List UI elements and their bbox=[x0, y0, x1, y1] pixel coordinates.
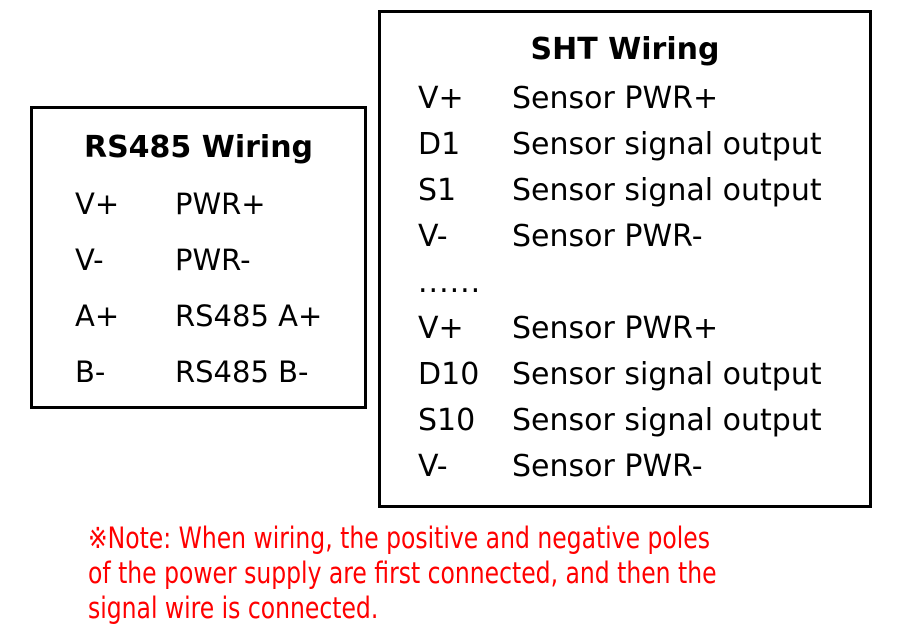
sht-pin-label: S10 bbox=[418, 403, 512, 438]
sht-row-ellipsis: ...... bbox=[418, 265, 869, 311]
note-line: ※Note: When wiring, the positive and neg… bbox=[88, 521, 772, 556]
sht-pin-desc: Sensor PWR+ bbox=[512, 311, 718, 346]
rs485-pin-list: V+ PWR+ V- PWR- A+ RS485 A+ B- RS485 B- bbox=[33, 187, 364, 411]
sht-row: D10 Sensor signal output bbox=[418, 357, 869, 403]
rs485-row: V+ PWR+ bbox=[75, 187, 364, 243]
sht-pin-label: D10 bbox=[418, 357, 512, 392]
rs485-pin-label: B- bbox=[75, 355, 175, 389]
rs485-pin-desc: RS485 B- bbox=[175, 355, 309, 389]
rs485-pin-label: A+ bbox=[75, 299, 175, 333]
rs485-pin-desc: RS485 A+ bbox=[175, 299, 322, 333]
rs485-pin-desc: PWR+ bbox=[175, 187, 266, 221]
rs485-pin-label: V+ bbox=[75, 187, 175, 221]
sht-wiring-box: SHT Wiring V+ Sensor PWR+ D1 Sensor sign… bbox=[378, 10, 872, 508]
sht-pin-label: V- bbox=[418, 449, 512, 484]
sht-pin-desc: Sensor PWR+ bbox=[512, 81, 718, 116]
sht-row: S1 Sensor signal output bbox=[418, 173, 869, 219]
rs485-wiring-box: RS485 Wiring V+ PWR+ V- PWR- A+ RS485 A+… bbox=[30, 106, 367, 409]
sht-pin-label: V+ bbox=[418, 311, 512, 346]
wiring-note: ※Note: When wiring, the positive and neg… bbox=[88, 521, 772, 626]
note-line: of the power supply are first connected,… bbox=[88, 556, 772, 591]
sht-title: SHT Wiring bbox=[381, 35, 869, 65]
sht-row: V+ Sensor PWR+ bbox=[418, 311, 869, 357]
sht-pin-label: V- bbox=[418, 219, 512, 254]
sht-row: S10 Sensor signal output bbox=[418, 403, 869, 449]
rs485-pin-desc: PWR- bbox=[175, 243, 251, 277]
sht-pin-desc: Sensor PWR- bbox=[512, 219, 703, 254]
sht-row: V- Sensor PWR- bbox=[418, 219, 869, 265]
sht-pin-label: D1 bbox=[418, 127, 512, 162]
note-line: signal wire is connected. bbox=[88, 591, 772, 626]
sht-pin-label: V+ bbox=[418, 81, 512, 116]
rs485-row: A+ RS485 A+ bbox=[75, 299, 364, 355]
rs485-pin-label: V- bbox=[75, 243, 175, 277]
sht-pin-desc: Sensor signal output bbox=[512, 357, 822, 392]
sht-pin-list: V+ Sensor PWR+ D1 Sensor signal output S… bbox=[381, 81, 869, 495]
rs485-row: V- PWR- bbox=[75, 243, 364, 299]
sht-pin-label: S1 bbox=[418, 173, 512, 208]
rs485-title: RS485 Wiring bbox=[33, 133, 364, 163]
sht-row: V+ Sensor PWR+ bbox=[418, 81, 869, 127]
sht-pin-desc: Sensor signal output bbox=[512, 127, 822, 162]
sht-row: D1 Sensor signal output bbox=[418, 127, 869, 173]
sht-row: V- Sensor PWR- bbox=[418, 449, 869, 495]
sht-pin-desc: Sensor signal output bbox=[512, 403, 822, 438]
sht-ellipsis-label: ...... bbox=[418, 265, 481, 300]
sht-pin-desc: Sensor PWR- bbox=[512, 449, 703, 484]
rs485-row: B- RS485 B- bbox=[75, 355, 364, 411]
sht-pin-desc: Sensor signal output bbox=[512, 173, 822, 208]
